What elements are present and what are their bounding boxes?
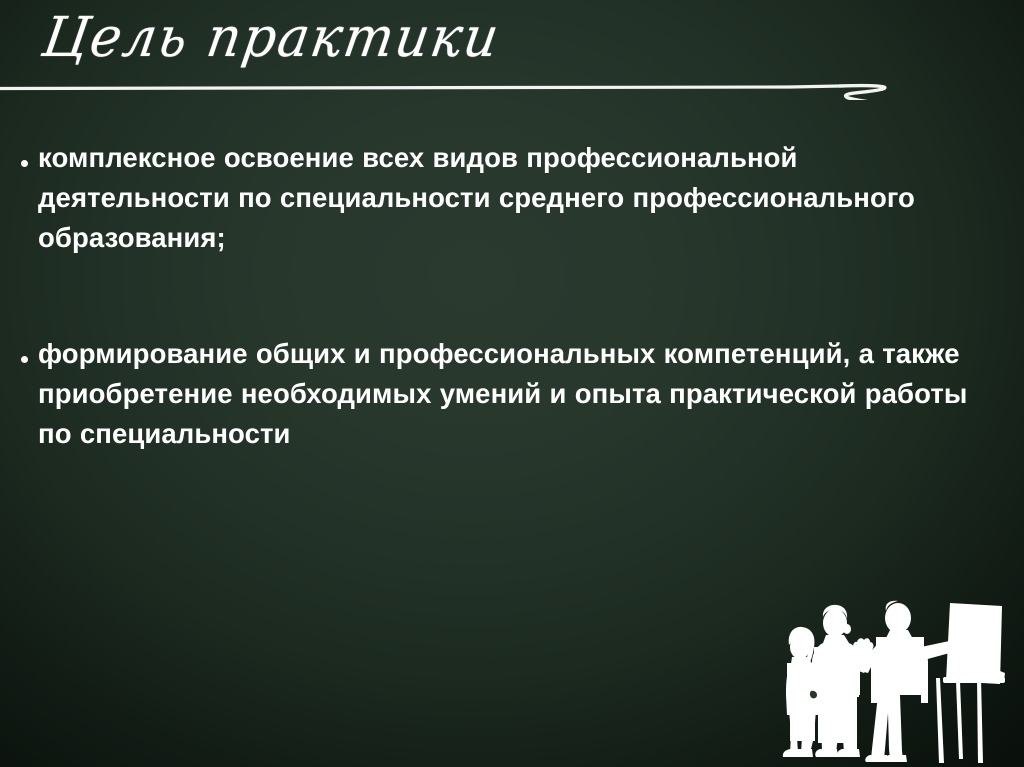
woman-silhouette	[783, 627, 821, 757]
bullet-list: комплексное освоение всех видов професси…	[0, 138, 1010, 454]
bullet-text-2: формирование общих и профессиональных ко…	[38, 334, 983, 454]
bullet-marker-icon	[10, 334, 38, 367]
bullet-item-1: комплексное освоение всех видов професси…	[0, 138, 1010, 258]
easel-icon	[936, 678, 983, 763]
presentation-silhouettes-illustration	[778, 591, 1022, 765]
slide-title-area: Цель практики	[0, 0, 1024, 100]
bullet-text-1: комплексное освоение всех видов професси…	[38, 138, 983, 258]
slide-canvas: Цель практики комплексное освоение всех …	[0, 0, 1024, 767]
bullet-marker-icon	[10, 138, 38, 171]
bullet-item-2: формирование общих и профессиональных ко…	[0, 334, 1010, 454]
standing-man-silhouette	[812, 605, 860, 757]
page-title: Цель практики	[38, 4, 505, 72]
